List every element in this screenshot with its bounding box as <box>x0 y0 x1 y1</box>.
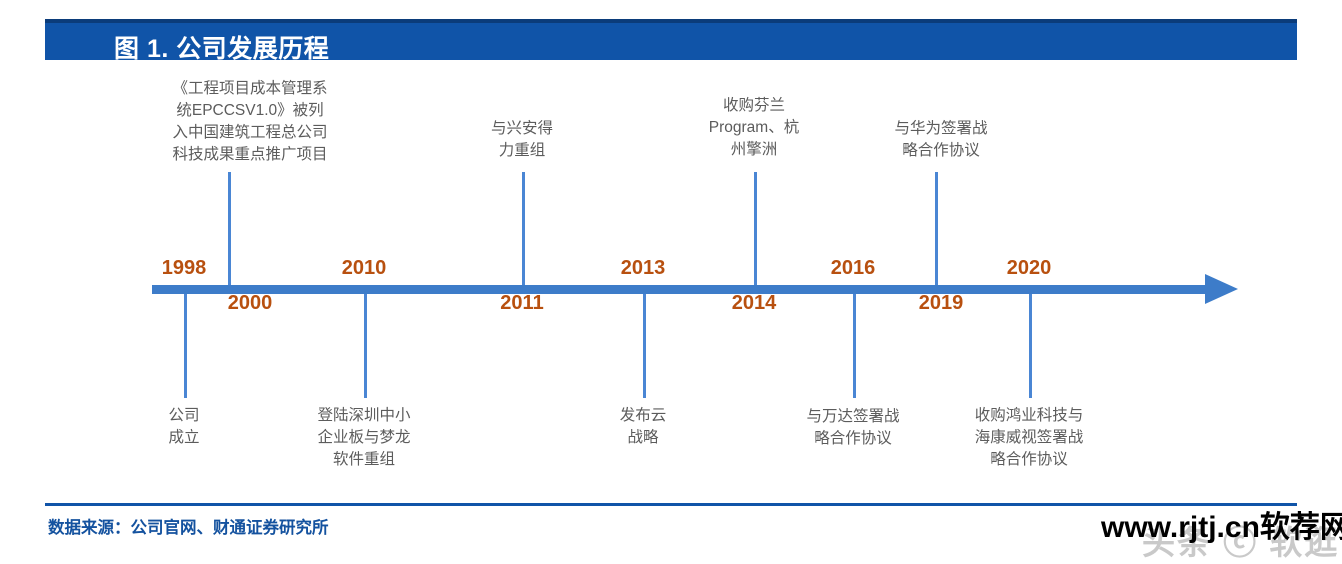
timeline-event-text: 与万达签署战 略合作协议 <box>806 406 899 450</box>
url-watermark: www.rjtj.cn软荐网 <box>1101 502 1342 546</box>
timeline-event-text: 公司 成立 <box>168 405 199 449</box>
timeline-year-label: 2013 <box>621 257 666 280</box>
timeline-connector <box>1029 294 1032 398</box>
timeline-year-label: 2000 <box>228 292 273 315</box>
timeline-connector <box>364 294 367 398</box>
data-source-note: 数据来源：公司官网、财通证券研究所 <box>48 514 329 538</box>
timeline-year-label: 2016 <box>831 257 876 280</box>
timeline-year-label: 2020 <box>1007 257 1052 280</box>
timeline-arrow-head-icon <box>1205 274 1238 304</box>
timeline-event-text: 收购鸿业科技与 海康威视签署战 略合作协议 <box>975 405 1084 471</box>
timeline-event-text: 登陆深圳中小 企业板与梦龙 软件重组 <box>317 405 410 471</box>
timeline-axis-bar <box>152 285 1217 294</box>
timeline-connector <box>184 294 187 398</box>
timeline-year-label: 2014 <box>732 292 777 315</box>
timeline-connector <box>228 172 231 285</box>
timeline-connector <box>853 294 856 398</box>
page-title: 图 1. 公司发展历程 <box>114 29 329 65</box>
timeline-event-text: 发布云 战略 <box>620 405 667 449</box>
figure-title-banner: 图 1. 公司发展历程 <box>45 19 1297 60</box>
timeline-year-label: 2019 <box>919 292 964 315</box>
timeline-event-text: 与兴安得 力重组 <box>491 118 553 162</box>
timeline-year-label: 1998 <box>162 257 207 280</box>
timeline-connector <box>754 172 757 285</box>
timeline-event-text: 《工程项目成本管理系 统EPCCSV1.0》被列 入中国建筑工程总公司 科技成果… <box>172 78 327 166</box>
timeline-year-label: 2011 <box>500 292 543 315</box>
timeline-connector <box>643 294 646 398</box>
timeline-connector <box>935 172 938 285</box>
timeline-year-label: 2010 <box>342 257 387 280</box>
timeline-event-text: 与华为签署战 略合作协议 <box>894 118 987 162</box>
timeline-event-text: 收购芬兰 Program、杭 州擎洲 <box>709 95 799 161</box>
figure-container: 图 1. 公司发展历程 1998公司 成立2000《工程项目成本管理系 统EPC… <box>0 0 1342 564</box>
timeline-connector <box>522 172 525 285</box>
